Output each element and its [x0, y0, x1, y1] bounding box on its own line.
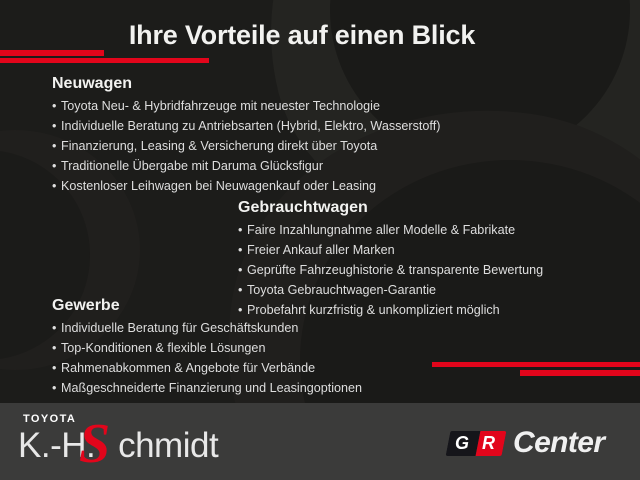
list-item: •Toyota Neu- & Hybridfahrzeuge mit neues… [52, 96, 440, 116]
accent-bar-top-thick [0, 50, 104, 56]
page-title: Ihre Vorteile auf einen Blick [0, 22, 604, 49]
bullet-icon: • [52, 96, 61, 116]
list-item-label: Top-Konditionen & flexible Lösungen [61, 341, 265, 355]
list-item-label: Traditionelle Übergabe mit Daruma Glücks… [61, 159, 323, 173]
list-item: •Geprüfte Fahrzeughistorie & transparent… [238, 260, 543, 280]
advertising-banner: Ihre Vorteile auf einen Blick Neuwagen •… [0, 0, 640, 480]
bullet-icon: • [238, 220, 247, 240]
accent-bar-top-thin [0, 58, 209, 63]
svg-text:S: S [79, 415, 110, 473]
section-gewerbe: Gewerbe •Individuelle Beratung für Gesch… [52, 296, 362, 398]
benefit-list-neuwagen: •Toyota Neu- & Hybridfahrzeuge mit neues… [52, 96, 440, 196]
list-item: •Faire Inzahlungnahme aller Modelle & Fa… [238, 220, 543, 240]
list-item: •Individuelle Beratung zu Antriebsarten … [52, 116, 440, 136]
section-title-gebrauchtwagen: Gebrauchtwagen [238, 198, 543, 218]
list-item: •Maßgeschneiderte Finanzierung und Leasi… [52, 378, 362, 398]
dealer-name-suffix: chmidt [118, 426, 218, 465]
bullet-icon: • [52, 176, 61, 196]
list-item: •Kostenloser Leihwagen bei Neuwagenkauf … [52, 176, 440, 196]
list-item-label: Individuelle Beratung für Geschäftskunde… [61, 321, 298, 335]
list-item-label: Toyota Gebrauchtwagen-Garantie [247, 283, 436, 297]
bullet-icon: • [52, 378, 61, 398]
bullet-icon: • [52, 116, 61, 136]
gr-center-wordmark: Center [513, 426, 604, 460]
accent-bar-bottom-thick [520, 370, 640, 376]
list-item-label: Kostenloser Leihwagen bei Neuwagenkauf o… [61, 179, 376, 193]
list-item-label: Toyota Neu- & Hybridfahrzeuge mit neuest… [61, 99, 380, 113]
bullet-icon: • [238, 240, 247, 260]
bullet-icon: • [52, 338, 61, 358]
gr-badge-letter-r: R [482, 433, 495, 454]
list-item-label: Faire Inzahlungnahme aller Modelle & Fab… [247, 223, 515, 237]
dealer-logo: TOYOTA K.-H.Schmidt S [18, 411, 248, 473]
list-item: •Top-Konditionen & flexible Lösungen [52, 338, 362, 358]
section-title-gewerbe: Gewerbe [52, 296, 362, 316]
bullet-icon: • [238, 260, 247, 280]
list-item-label: Rahmenabkommen & Angebote für Verbände [61, 361, 315, 375]
bullet-icon: • [52, 136, 61, 156]
section-title-neuwagen: Neuwagen [52, 74, 440, 94]
list-item-label: Freier Ankauf aller Marken [247, 243, 395, 257]
bullet-icon: • [52, 318, 61, 338]
list-item: •Freier Ankauf aller Marken [238, 240, 543, 260]
gr-badge-letter-g: G [455, 433, 469, 454]
gr-badge-icon: G R [446, 431, 507, 456]
list-item: •Traditionelle Übergabe mit Daruma Glück… [52, 156, 440, 176]
list-item-label: Individuelle Beratung zu Antriebsarten (… [61, 119, 440, 133]
list-item: •Rahmenabkommen & Angebote für Verbände [52, 358, 362, 378]
section-neuwagen: Neuwagen •Toyota Neu- & Hybridfahrzeuge … [52, 74, 440, 196]
bullet-icon: • [52, 358, 61, 378]
list-item-label: Finanzierung, Leasing & Versicherung dir… [61, 139, 377, 153]
stylized-s-icon: S [75, 415, 131, 473]
list-item: •Individuelle Beratung für Geschäftskund… [52, 318, 362, 338]
list-item-label: Geprüfte Fahrzeughistorie & transparente… [247, 263, 543, 277]
accent-bar-bottom-thin [432, 362, 640, 367]
toyota-wordmark: TOYOTA [23, 413, 76, 425]
gr-center-logo: G R Center [448, 423, 604, 463]
list-item: •Finanzierung, Leasing & Versicherung di… [52, 136, 440, 156]
benefit-list-gewerbe: •Individuelle Beratung für Geschäftskund… [52, 318, 362, 398]
list-item-label: Maßgeschneiderte Finanzierung und Leasin… [61, 381, 362, 395]
bullet-icon: • [52, 156, 61, 176]
footer-bar: TOYOTA K.-H.Schmidt S G R Center [0, 403, 640, 480]
